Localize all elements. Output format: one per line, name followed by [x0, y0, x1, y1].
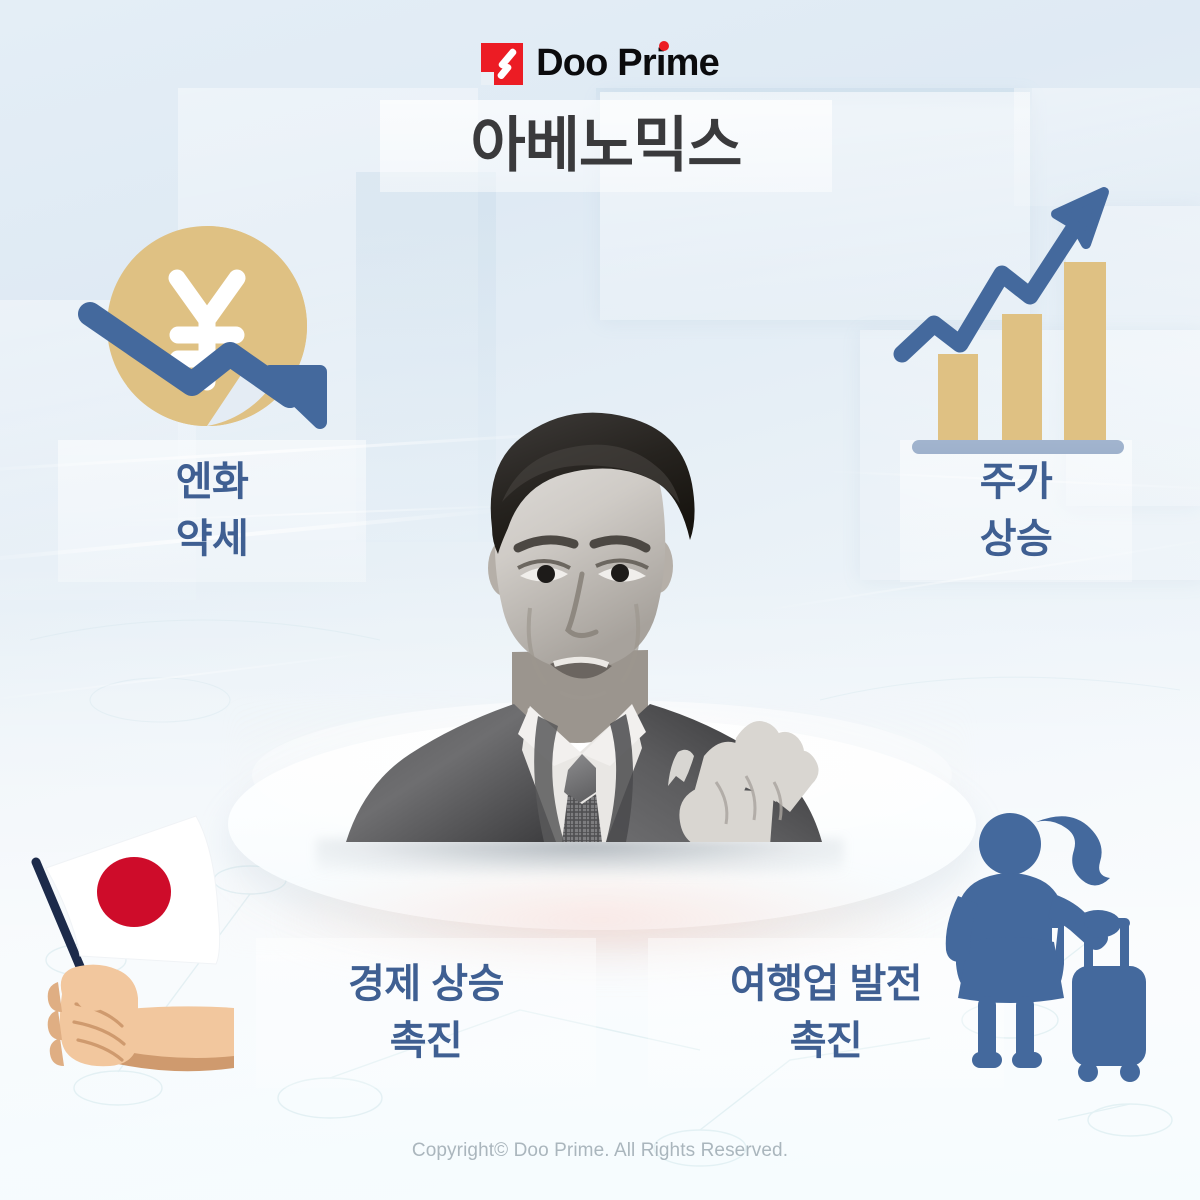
bar-1: [938, 354, 978, 442]
caption-line-2: 촉진: [790, 1013, 863, 1070]
caption-line-1: 주가: [980, 454, 1053, 511]
footer-copyright: Copyright© Doo Prime. All Rights Reserve…: [0, 1140, 1200, 1162]
hand-holding-japan-flag-icon: [18, 806, 262, 1102]
brand-name-dot-icon: [659, 41, 669, 51]
page-title: 아베노믹스: [471, 116, 742, 176]
brand-name: Doo Prime: [536, 42, 719, 85]
caption-yen-weakness: 엔화 약세: [58, 440, 366, 582]
caption-line-2: 약세: [176, 511, 249, 568]
caption-economy-growth: 경제 상승 촉진: [256, 938, 596, 1088]
brand-header: Doo Prime: [0, 42, 1200, 85]
caption-line-1: 엔화: [176, 454, 249, 511]
bar-chart-up-arrow-icon: [890, 178, 1142, 460]
female-traveler-suitcase-icon: [932, 800, 1184, 1092]
caption-line-1: 경제 상승: [348, 956, 504, 1013]
title-panel: 아베노믹스: [380, 100, 832, 192]
bar-2: [1002, 314, 1042, 442]
caption-line-1: 여행업 발전: [730, 956, 922, 1013]
bar-3: [1064, 262, 1106, 442]
caption-line-2: 촉진: [390, 1013, 463, 1070]
brand-name-text: Doo Prime: [536, 42, 719, 84]
shinzo-abe-portrait: [306, 352, 854, 860]
infographic-poster: Doo Prime 아베노믹스: [0, 0, 1200, 1200]
caption-stock-rise: 주가 상승: [900, 440, 1132, 582]
doo-prime-logo-icon: [481, 43, 523, 85]
caption-line-2: 상승: [980, 511, 1053, 568]
